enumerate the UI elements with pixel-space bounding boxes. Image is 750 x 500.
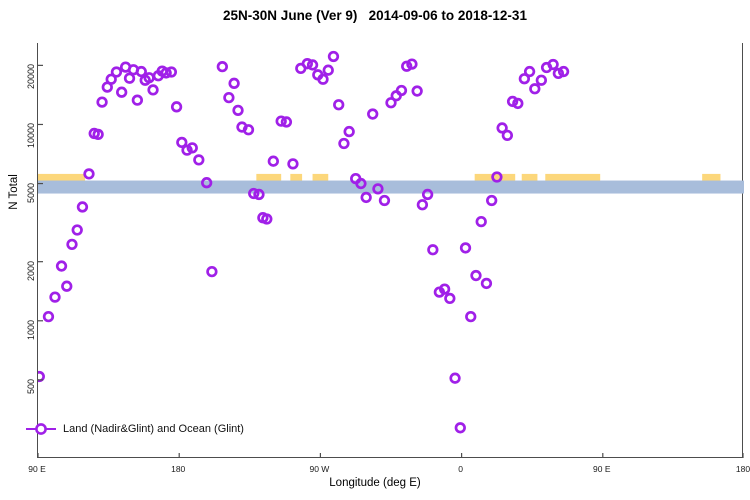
data-point: [73, 226, 82, 235]
data-point: [329, 52, 338, 61]
data-point: [482, 279, 491, 288]
data-point: [137, 67, 146, 76]
scatter-plot-svg: [38, 43, 744, 458]
data-point: [78, 203, 87, 212]
longitude-surface-bands: [38, 174, 744, 194]
y-tick-label: 2000: [26, 261, 36, 301]
x-axis-title: Longitude (deg E): [0, 477, 750, 489]
legend-marker-icon: [26, 422, 56, 436]
data-point: [225, 93, 234, 102]
x-tick-label: 0: [431, 464, 491, 474]
y-axis-title: N Total: [8, 132, 20, 252]
plot-area: [37, 43, 743, 458]
data-point: [98, 98, 107, 107]
data-point: [195, 156, 204, 165]
data-points-group: [38, 52, 568, 432]
x-tick-label: 180: [713, 464, 750, 474]
data-point: [319, 75, 328, 84]
data-point: [269, 157, 278, 166]
surface-band-segment: [38, 181, 744, 194]
legend: Land (Nadir&Glint) and Ocean (Glint): [26, 422, 244, 436]
page-title: 25N-30N June (Ver 9) 2014-09-06 to 2018-…: [0, 8, 750, 23]
x-tick-label: 180: [148, 464, 208, 474]
data-point: [503, 131, 512, 140]
data-point: [423, 190, 432, 199]
data-point: [85, 170, 94, 179]
data-point: [51, 293, 60, 302]
data-point: [456, 424, 465, 433]
data-point: [466, 312, 475, 321]
legend-label: Land (Nadir&Glint) and Ocean (Glint): [63, 423, 244, 435]
data-point: [380, 196, 389, 205]
data-point: [57, 262, 66, 271]
y-tick-label: 1000: [26, 320, 36, 360]
data-point: [531, 84, 540, 93]
data-point: [440, 285, 449, 294]
data-point: [418, 200, 427, 209]
data-point: [289, 160, 298, 169]
data-point: [397, 86, 406, 95]
data-point: [429, 245, 438, 254]
data-point: [345, 127, 354, 136]
data-point: [368, 110, 377, 119]
data-point: [487, 196, 496, 205]
data-point: [461, 244, 470, 253]
data-point: [208, 267, 217, 276]
data-point: [133, 96, 142, 105]
data-point: [230, 79, 239, 88]
y-tick-label: 20000: [26, 64, 36, 104]
data-point: [525, 67, 534, 76]
data-point: [472, 271, 481, 280]
y-tick-label: 5000: [26, 183, 36, 223]
data-point: [62, 282, 71, 291]
data-point: [112, 68, 121, 77]
x-tick-label: 90 E: [7, 464, 67, 474]
data-point: [117, 88, 126, 97]
data-point: [218, 62, 227, 71]
data-point: [451, 374, 460, 383]
x-tick-marks: [38, 453, 744, 458]
data-point: [149, 86, 158, 95]
y-tick-marks: [38, 65, 43, 380]
data-point: [362, 193, 371, 202]
figure-canvas: 25N-30N June (Ver 9) 2014-09-06 to 2018-…: [0, 0, 750, 500]
data-point: [324, 66, 333, 75]
x-tick-label: 90 W: [289, 464, 349, 474]
data-point: [334, 100, 343, 109]
data-point: [413, 87, 422, 96]
y-tick-label: 10000: [26, 123, 36, 163]
data-point: [244, 125, 253, 134]
data-point: [549, 60, 558, 69]
data-point: [172, 103, 181, 112]
data-point: [477, 217, 486, 226]
data-point: [234, 106, 243, 115]
y-tick-label: 500: [26, 379, 36, 419]
data-point: [188, 144, 197, 153]
data-point: [446, 294, 455, 303]
data-point: [537, 76, 546, 85]
data-point: [340, 139, 349, 148]
data-point: [44, 312, 53, 321]
data-point: [68, 240, 77, 249]
x-tick-label: 90 E: [572, 464, 632, 474]
